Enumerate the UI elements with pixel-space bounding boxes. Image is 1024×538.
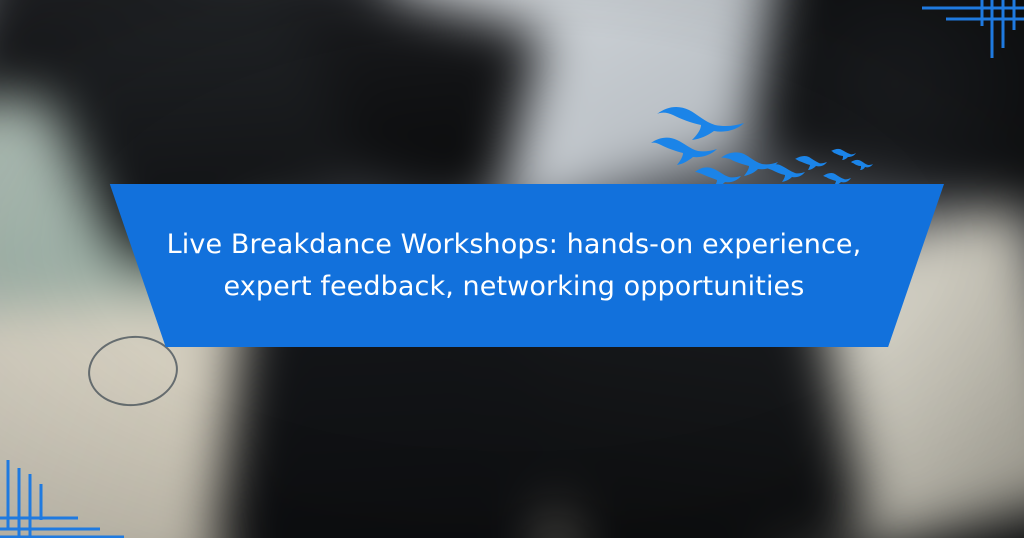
headline-banner: Live Breakdance Workshops: hands-on expe… (84, 184, 944, 347)
promo-banner-image: Live Breakdance Workshops: hands-on expe… (0, 0, 1024, 538)
headline-line-2: expert feedback, networking opportunitie… (164, 266, 864, 307)
headline-line-1: Live Breakdance Workshops: hands-on expe… (164, 224, 864, 265)
birds-icon (645, 96, 875, 196)
headline-text: Live Breakdance Workshops: hands-on expe… (164, 224, 864, 306)
